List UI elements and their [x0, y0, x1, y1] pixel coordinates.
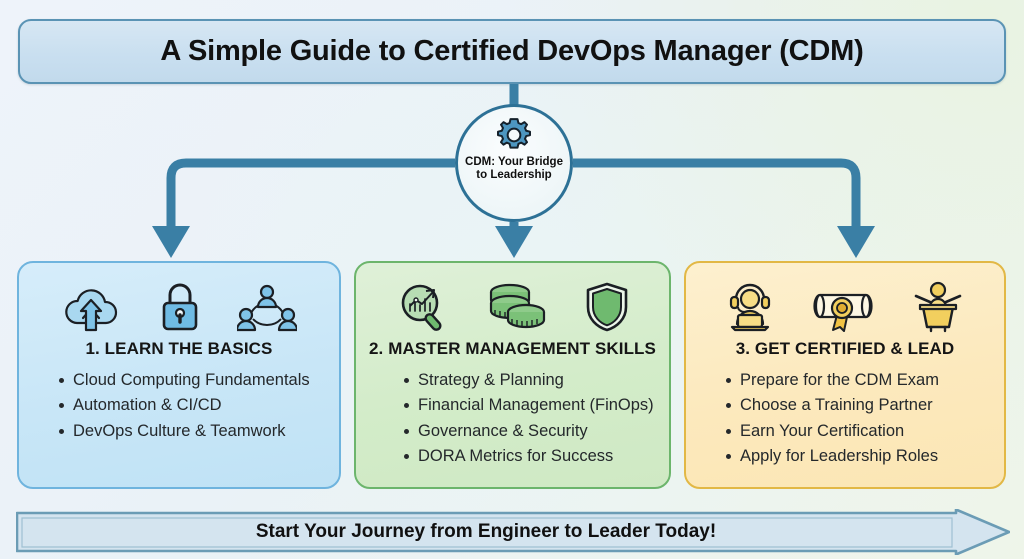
banner-text: Start Your Journey from Engineer to Lead… — [16, 509, 956, 555]
step-card-get-certified-and-lead: 3. GET CERTIFIED & LEAD Prepare for the … — [684, 261, 1006, 489]
team-network-icon — [237, 283, 297, 333]
list-item: Apply for Leadership Roles — [726, 444, 994, 468]
arrowhead-center — [495, 226, 533, 258]
podium-speaker-icon — [910, 281, 966, 333]
card-bullet-list: Cloud Computing Fundamentals Automation … — [19, 368, 339, 443]
cloud-upload-icon — [61, 285, 123, 333]
card-bullet-list: Strategy & Planning Financial Management… — [356, 368, 669, 468]
step-card-master-management-skills: 2. MASTER MANAGEMENT SKILLS Strategy & P… — [354, 261, 671, 489]
hub-node: CDM: Your Bridge to Leadership — [455, 104, 573, 222]
gear-icon — [494, 115, 534, 155]
lock-icon — [157, 281, 203, 333]
list-item: Automation & CI/CD — [59, 393, 329, 417]
headset-learner-icon — [724, 281, 776, 333]
card-icon-row — [686, 263, 1004, 333]
magnifier-chart-icon — [396, 281, 452, 333]
page-title: A Simple Guide to Certified DevOps Manag… — [160, 35, 863, 68]
card-icon-row — [356, 263, 669, 333]
call-to-action-banner: Start Your Journey from Engineer to Lead… — [16, 509, 1010, 555]
shield-icon — [584, 281, 630, 333]
page-title-bar: A Simple Guide to Certified DevOps Manag… — [18, 19, 1006, 84]
arrowhead-right — [837, 226, 875, 258]
list-item: Strategy & Planning — [404, 368, 659, 392]
certificate-scroll-icon — [810, 283, 876, 333]
card-bullet-list: Prepare for the CDM Exam Choose a Traini… — [686, 368, 1004, 468]
arrowhead-left — [152, 226, 190, 258]
list-item: Earn Your Certification — [726, 419, 994, 443]
list-item: Governance & Security — [404, 419, 659, 443]
list-item: Choose a Training Partner — [726, 393, 994, 417]
card-heading: 2. MASTER MANAGEMENT SKILLS — [356, 339, 669, 359]
infographic-canvas: A Simple Guide to Certified DevOps Manag… — [0, 0, 1024, 559]
list-item: Financial Management (FinOps) — [404, 393, 659, 417]
step-card-learn-the-basics: 1. LEARN THE BASICS Cloud Computing Fund… — [17, 261, 341, 489]
hub-label: CDM: Your Bridge to Leadership — [462, 156, 566, 183]
list-item: Prepare for the CDM Exam — [726, 368, 994, 392]
coins-stack-icon — [486, 281, 550, 333]
list-item: DORA Metrics for Success — [404, 444, 659, 468]
card-heading: 1. LEARN THE BASICS — [19, 339, 339, 359]
card-heading: 3. GET CERTIFIED & LEAD — [686, 339, 1004, 359]
list-item: Cloud Computing Fundamentals — [59, 368, 329, 392]
card-icon-row — [19, 263, 339, 333]
list-item: DevOps Culture & Teamwork — [59, 419, 329, 443]
